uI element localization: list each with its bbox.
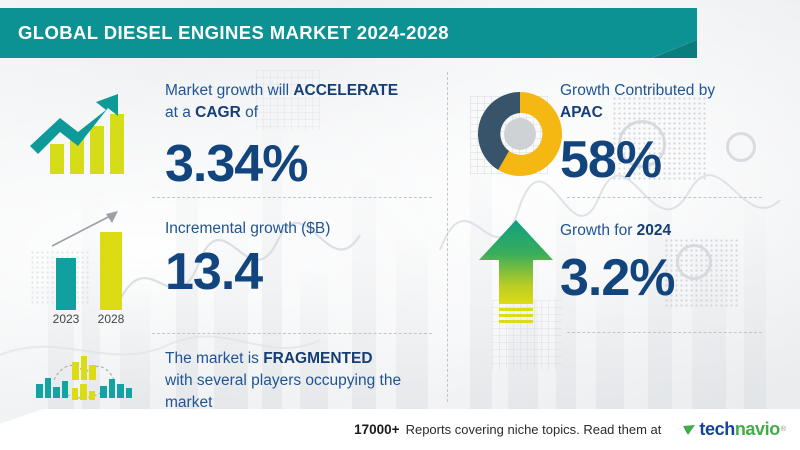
column-divider	[447, 72, 448, 402]
left-divider-1	[152, 197, 432, 198]
stat-growth-2024: Growth for 2024 3.2%	[560, 220, 790, 304]
right-divider-1	[567, 197, 762, 198]
up-arrow-icon	[477, 218, 555, 329]
stat-growth-2024-part1: Growth for	[560, 222, 637, 239]
technavio-logo-tech: tech	[699, 419, 734, 440]
technavio-logo-navio: navio	[735, 419, 780, 440]
stat-cagr-label-part2: at a	[165, 104, 195, 121]
stat-apac-label: Growth Contributed by APAC	[560, 80, 790, 124]
footer-text: Reports covering niche topics. Read them…	[406, 422, 662, 437]
market-players-icon	[28, 348, 138, 413]
stat-apac-part1: Growth Contributed by	[560, 82, 715, 99]
stat-fragmentation-part2: with several players occupying the marke…	[165, 372, 401, 411]
stat-apac: Growth Contributed by APAC 58%	[560, 80, 790, 186]
stat-cagr-label-part1: Market growth will	[165, 82, 293, 99]
growth-chart-icon	[22, 82, 134, 191]
stat-fragmentation: The market is FRAGMENTED with several pl…	[165, 348, 440, 414]
page-title: GLOBAL DIESEL ENGINES MARKET 2024-2028	[0, 22, 449, 44]
stat-growth-2024-bold: 2024	[637, 222, 671, 239]
stat-cagr-label-bold1: ACCELERATE	[293, 82, 398, 99]
stat-fragmentation-label: The market is FRAGMENTED with several pl…	[165, 348, 440, 414]
stat-apac-value: 58%	[560, 134, 790, 186]
bar-label-2023: 2023	[53, 312, 80, 326]
stat-fragmentation-part1: The market is	[165, 350, 263, 367]
header-banner: GLOBAL DIESEL ENGINES MARKET 2024-2028	[0, 8, 697, 58]
bar-comparison-icon: 2023 2028	[26, 200, 144, 331]
donut-chart-icon	[472, 86, 568, 187]
stat-growth-2024-value: 3.2%	[560, 252, 790, 304]
stat-incremental: Incremental growth ($B) 13.4	[165, 218, 435, 298]
stat-cagr-label-part3: of	[241, 104, 258, 121]
footer-report-count: 17000+	[354, 422, 399, 437]
footer-bar: 17000+ Reports covering niche topics. Re…	[0, 409, 800, 450]
bar-label-2028: 2028	[98, 312, 125, 326]
technavio-logo-tm: ®	[781, 426, 786, 433]
infographic-canvas: GLOBAL DIESEL ENGINES MARKET 2024-2028 M…	[0, 0, 800, 450]
stat-cagr: Market growth will ACCELERATE at a CAGR …	[165, 80, 435, 190]
left-divider-2	[152, 333, 432, 334]
technavio-logo[interactable]: technavio®	[681, 419, 786, 440]
right-divider-2	[567, 332, 762, 333]
technavio-mark-icon	[681, 422, 697, 438]
stat-growth-2024-label: Growth for 2024	[560, 220, 790, 242]
stat-fragmentation-bold: FRAGMENTED	[263, 350, 372, 367]
stat-cagr-value: 3.34%	[165, 138, 435, 190]
stat-cagr-label: Market growth will ACCELERATE at a CAGR …	[165, 80, 435, 124]
stat-incremental-label: Incremental growth ($B)	[165, 218, 435, 240]
stat-cagr-label-bold2: CAGR	[195, 104, 241, 121]
stat-apac-bold: APAC	[560, 104, 603, 121]
stat-incremental-value: 13.4	[165, 246, 435, 298]
